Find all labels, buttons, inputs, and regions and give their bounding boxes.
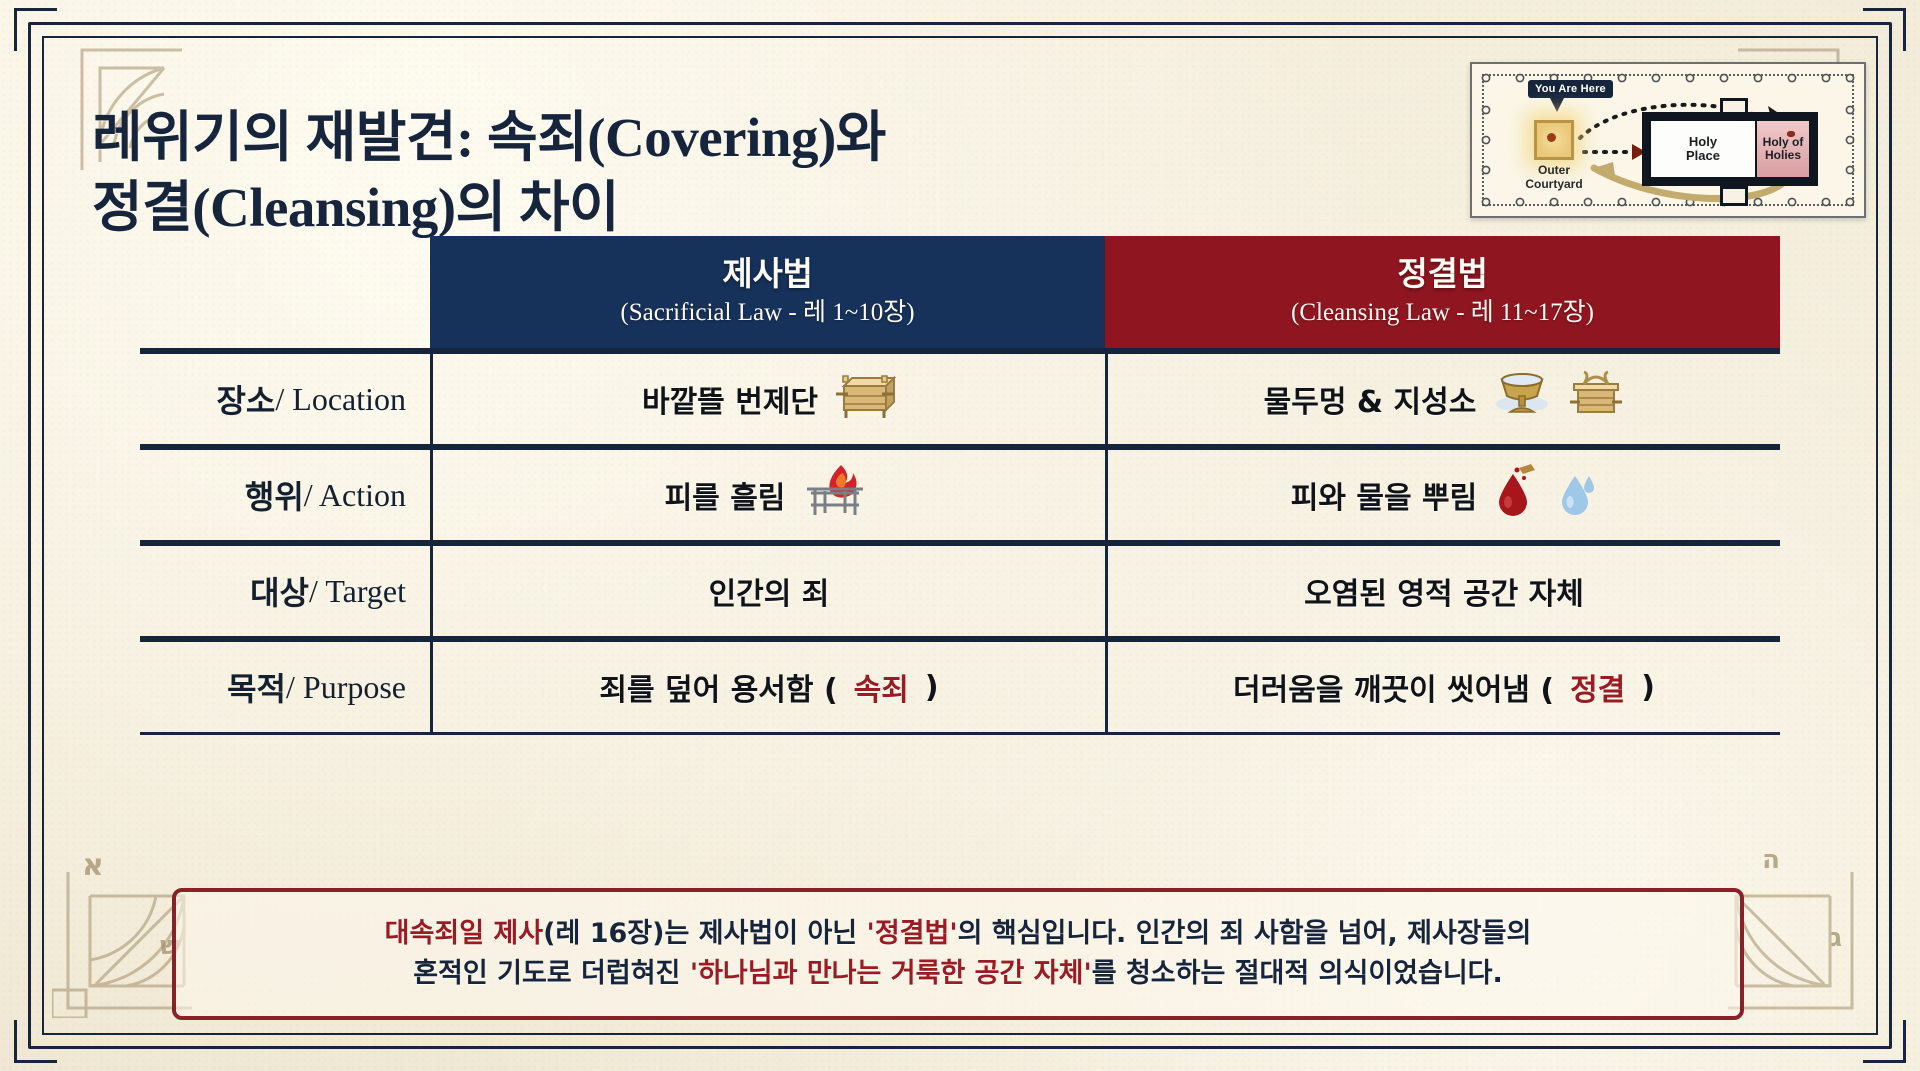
table-header-sacrificial-law: 제사법 (Sacrificial Law - 레 1~10장): [430, 236, 1105, 348]
bronze-altar-marker-icon: [1534, 120, 1574, 160]
row-label-location: 장소 / Location: [140, 354, 430, 444]
hebrew-letter-gimel: ג: [1830, 923, 1842, 953]
header-subtitle-sacrificial: (Sacrificial Law - 레 1~10장): [620, 299, 914, 327]
cell-purpose-cleansing-suffix: ): [1641, 670, 1655, 705]
page-title-line-2: 정결(Cleansing)의 차이: [92, 173, 1172, 243]
tent-entrance-nub-bottom: [1720, 186, 1748, 206]
callout-line-1: 대속죄일 제사(레 16장)는 제사법이 아닌 '정결법'의 핵심입니다. 인간…: [385, 914, 1532, 955]
cell-action-cleansing: 피와 물을 뿌림: [1105, 450, 1780, 540]
summary-callout-box: 대속죄일 제사(레 16장)는 제사법이 아닌 '정결법'의 핵심입니다. 인간…: [172, 888, 1744, 1020]
cell-purpose-sacrificial: 죄를 덮어 용서함 (속죄): [430, 642, 1105, 732]
row-label-action-ko: 행위: [245, 472, 304, 518]
cell-location-sacrificial: 바깥뜰 번제단: [430, 354, 1105, 444]
holy-of-holies-label-line-2: Holies: [1765, 148, 1801, 162]
cell-target-cleansing: 오염된 영적 공간 자체: [1105, 546, 1780, 636]
burning-altar-icon: [801, 463, 873, 527]
table-bottom-border: [140, 732, 1780, 735]
callout-line-2-highlight: '하나님과 만나는 거룩한 공간 자체': [690, 958, 1092, 989]
bronze-altar-icon: [834, 370, 896, 428]
holy-place-label-line-2: Place: [1686, 148, 1720, 163]
row-label-purpose-ko: 목적: [227, 664, 286, 710]
table-header-corner-spacer: [140, 236, 430, 348]
callout-line-2-part-a: 혼적인 기도로 더럽혀진: [413, 958, 690, 989]
row-label-purpose: 목적 / Purpose: [140, 642, 430, 732]
page-title-line-1: 레위기의 재발견: 속죄(Covering)와: [92, 103, 1172, 173]
table-header-row: 제사법 (Sacrificial Law - 레 1~10장) 정결법 (Cle…: [140, 236, 1780, 348]
cell-purpose-sacrificial-accent: 속죄: [854, 665, 909, 709]
cell-target-cleansing-text: 오염된 영적 공간 자체: [1304, 569, 1584, 613]
tabernacle-diagram-thumbnail: You Are Here Outer Courtyard Holy Place …: [1470, 62, 1866, 218]
header-title-sacrificial: 제사법: [722, 258, 812, 293]
blood-drop-icon: [1493, 464, 1537, 526]
laver-basin-icon: [1492, 368, 1552, 430]
holy-of-holies-label-line-1: Holy of: [1763, 135, 1804, 149]
cell-action-sacrificial: 피를 흘림: [430, 450, 1105, 540]
comparison-table: 제사법 (Sacrificial Law - 레 1~10장) 정결법 (Cle…: [140, 236, 1780, 735]
cell-target-sacrificial-text: 인간의 죄: [709, 569, 830, 613]
cell-target-sacrificial: 인간의 죄: [430, 546, 1105, 636]
cell-purpose-cleansing: 더러움을 깨끗이 씻어냄 (정결): [1105, 642, 1780, 732]
page-title: 레위기의 재발견: 속죄(Covering)와 정결(Cleansing)의 차…: [92, 103, 1172, 244]
cell-location-cleansing: 물두멍 & 지성소: [1105, 354, 1780, 444]
table-row-location: 장소 / Location 바깥뜰 번제단 물두멍: [140, 351, 1780, 444]
cell-purpose-cleansing-accent: 정결: [1570, 665, 1625, 709]
callout-line-1-part-d: 의 핵심입니다. 인간의 죄 사함을 넘어, 제사장들의: [958, 918, 1532, 949]
holy-place-label-line-1: Holy: [1689, 134, 1717, 149]
row-label-action-en: / Action: [304, 477, 406, 514]
cell-action-cleansing-text: 피와 물을 뿌림: [1291, 473, 1478, 517]
ark-of-covenant-icon: [1568, 368, 1624, 430]
corner-notch-bottom-left: [14, 1020, 57, 1063]
cell-action-sacrificial-text: 피를 흘림: [665, 473, 786, 517]
callout-line-1-part-b: (레 16장)는 제사법이 아닌: [543, 918, 866, 949]
holy-of-holies-blood-spot-icon: [1787, 131, 1795, 137]
row-label-location-en: / Location: [275, 381, 406, 418]
outer-courtyard-label: Outer Courtyard: [1506, 164, 1602, 192]
header-title-cleansing: 정결법: [1397, 258, 1487, 293]
cell-location-cleansing-text: 물두멍 & 지성소: [1264, 377, 1477, 421]
cell-purpose-sacrificial-suffix: ): [925, 670, 939, 705]
cell-location-sacrificial-text: 바깥뜰 번제단: [642, 377, 818, 421]
outer-courtyard-label-line-1: Outer: [1538, 163, 1570, 177]
row-label-target-ko: 대상: [250, 568, 309, 614]
callout-line-2-part-c: 를 청소하는 절대적 의식이었습니다.: [1092, 958, 1503, 989]
cell-purpose-cleansing-prefix: 더러움을 깨끗이 씻어냄 (: [1233, 665, 1554, 709]
slide-root: א ש ה ג 레위기의 재발견: 속죄(Covering)와 정결(Clean…: [0, 0, 1920, 1071]
hebrew-letter-aleph: א: [82, 848, 104, 883]
water-drop-icon: [1553, 464, 1597, 526]
corner-notch-top-right: [1863, 8, 1906, 51]
table-header-cleansing-law: 정결법 (Cleansing Law - 레 11~17장): [1105, 236, 1780, 348]
corner-notch-bottom-right: [1863, 1020, 1906, 1063]
table-row-target: 대상 / Target 인간의 죄 오염된 영적 공간 자체: [140, 543, 1780, 636]
header-subtitle-cleansing: (Cleansing Law - 레 11~17장): [1291, 299, 1594, 327]
row-label-target: 대상 / Target: [140, 546, 430, 636]
tabernacle-tent: Holy Place Holy of Holies: [1642, 112, 1818, 186]
callout-line-2: 혼적인 기도로 더럽혀진 '하나님과 만나는 거룩한 공간 자체'를 청소하는 …: [413, 954, 1503, 995]
holy-of-holies-room: Holy of Holies: [1757, 121, 1809, 177]
row-label-purpose-en: / Purpose: [286, 669, 406, 706]
table-row-purpose: 목적 / Purpose 죄를 덮어 용서함 (속죄) 더러움을 깨끗이 씻어냄…: [140, 639, 1780, 732]
cell-purpose-sacrificial-prefix: 죄를 덮어 용서함 (: [599, 665, 837, 709]
you-are-here-callout: You Are Here: [1528, 80, 1613, 98]
corner-notch-top-left: [14, 8, 57, 51]
row-label-target-en: / Target: [309, 573, 406, 610]
table-row-action: 행위 / Action 피를 흘림 피: [140, 447, 1780, 540]
row-label-action: 행위 / Action: [140, 450, 430, 540]
blood-spot-icon: [1547, 133, 1556, 142]
holy-place-room: Holy Place: [1651, 121, 1755, 177]
outer-courtyard-label-line-2: Courtyard: [1525, 177, 1582, 191]
callout-line-1-highlight-2: '정결법': [867, 918, 958, 949]
row-label-location-ko: 장소: [216, 376, 275, 422]
callout-line-1-highlight: 대속죄일 제사: [385, 918, 543, 949]
hebrew-letter-he: ה: [1762, 845, 1780, 875]
